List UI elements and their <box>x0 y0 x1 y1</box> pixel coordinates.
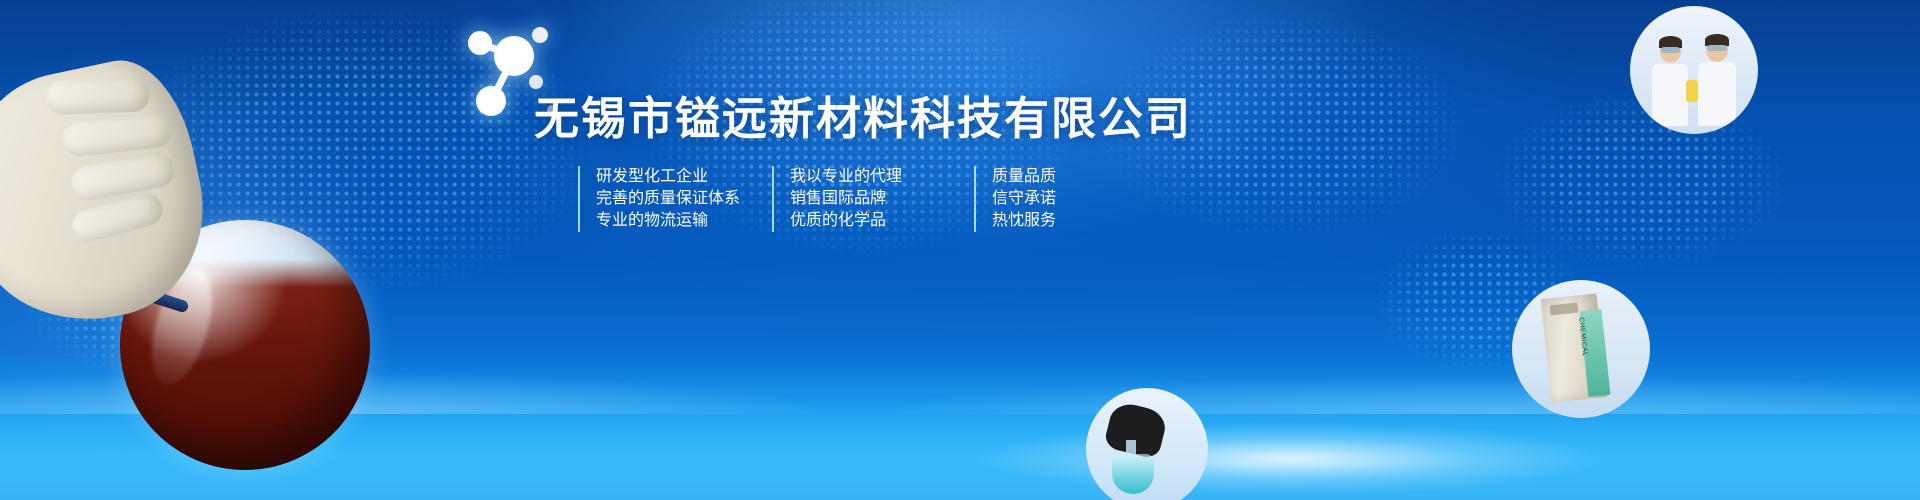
photo-bubble-gloved-hand-flask <box>1086 388 1208 500</box>
slogan-line: 质量品质 <box>992 166 1056 188</box>
slogan-line: 完善的质量保证体系 <box>596 188 740 210</box>
bubble-disc: CHEMICAL <box>1512 280 1650 418</box>
slogan-column-1: 研发型化工企业 完善的质量保证体系 专业的物流运输 <box>578 166 740 232</box>
slogan-line: 专业的物流运输 <box>596 210 740 232</box>
lab-coat-left <box>1652 64 1688 126</box>
company-hero-banner: 无锡市镒远新材料科技有限公司 研发型化工企业 完善的质量保证体系 专业的物流运输… <box>0 0 1920 500</box>
page-title: 无锡市镒远新材料科技有限公司 <box>534 94 1192 144</box>
lab-coat-right <box>1698 62 1736 126</box>
slogan-column-3: 质量品质 信守承诺 热忱服务 <box>974 166 1056 232</box>
slogan-line: 我以专业的代理 <box>790 166 902 188</box>
bubble-disc <box>1086 388 1208 500</box>
finger-2 <box>61 112 174 157</box>
black-glove <box>1103 400 1169 460</box>
slogan-column-2: 我以专业的代理 销售国际品牌 优质的化学品 <box>772 166 902 232</box>
bubble-disc <box>1630 6 1758 134</box>
slogan-line: 优质的化学品 <box>790 210 902 232</box>
slogan-line: 热忱服务 <box>992 210 1056 232</box>
foreground-flask-photo <box>0 70 410 500</box>
photo-bubble-chemical-package: CHEMICAL <box>1512 280 1650 418</box>
sample-bottle <box>1686 80 1698 102</box>
light-beam <box>980 424 1600 494</box>
finger-3 <box>69 151 177 203</box>
safety-goggles-left <box>1661 47 1680 53</box>
flask-mini <box>1112 454 1154 494</box>
safety-goggles-right <box>1707 45 1727 51</box>
slogan-group: 研发型化工企业 完善的质量保证体系 专业的物流运输 我以专业的代理 销售国际品牌… <box>578 166 1056 232</box>
slogan-line: 信守承诺 <box>992 188 1056 210</box>
slogan-line: 销售国际品牌 <box>790 188 902 210</box>
photo-bubble-lab-technicians <box>1630 6 1758 134</box>
finger-1 <box>45 77 150 115</box>
slogan-line: 研发型化工企业 <box>596 166 740 188</box>
